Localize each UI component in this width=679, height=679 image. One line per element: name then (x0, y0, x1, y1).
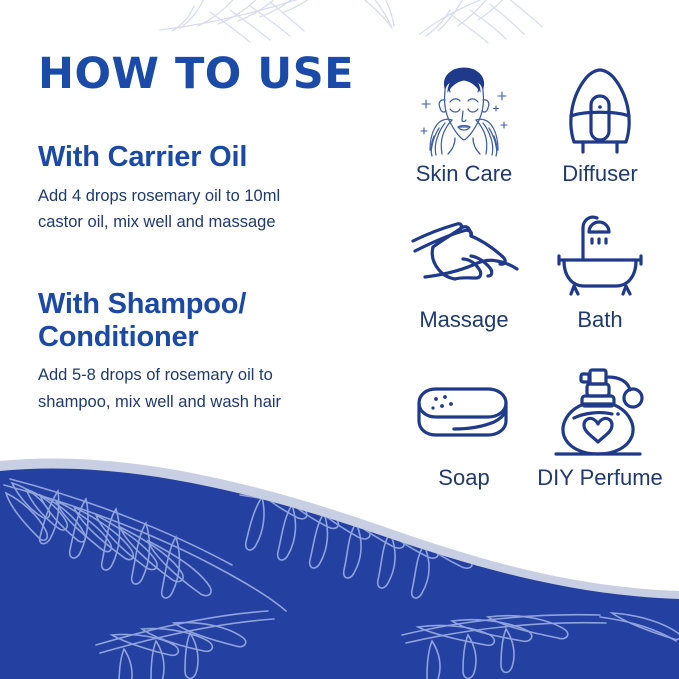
use-item-bath: Bath (532, 212, 668, 362)
instruction-heading-shampoo: With Shampoo/ Conditioner (38, 288, 378, 353)
page-title: HOW TO USE (38, 52, 378, 97)
bathtub-icon (550, 212, 650, 298)
uses-icon-grid: Skin Care (396, 52, 668, 517)
use-item-massage: Massage (396, 212, 532, 362)
use-label-bath: Bath (577, 308, 622, 332)
instruction-block-shampoo: With Shampoo/ Conditioner Add 5-8 drops … (38, 288, 378, 415)
use-item-skin-care: Skin Care (396, 52, 532, 212)
spacer (38, 262, 378, 288)
instruction-line: Add 4 drops rosemary oil to 10ml (38, 183, 378, 210)
diffuser-icon (552, 52, 648, 160)
soap-bar-icon (414, 362, 514, 462)
use-item-soap: Soap (396, 362, 532, 517)
instruction-body-shampoo: Add 5-8 drops of rosemary oil to shampoo… (38, 362, 378, 415)
use-item-diy-perfume: DIY Perfume (532, 362, 668, 517)
perfume-bottle-icon (548, 362, 652, 462)
instructions-column: HOW TO USE With Carrier Oil Add 4 drops … (38, 52, 378, 441)
use-label-soap: Soap (438, 466, 489, 490)
use-item-diffuser: Diffuser (532, 52, 668, 212)
instruction-body-carrier-oil: Add 4 drops rosemary oil to 10ml castor … (38, 183, 378, 236)
how-to-use-infographic: HOW TO USE With Carrier Oil Add 4 drops … (0, 0, 679, 679)
face-skincare-icon (412, 52, 516, 160)
instruction-heading-carrier-oil: With Carrier Oil (38, 141, 378, 173)
instruction-heading-line: With Shampoo/ (38, 288, 378, 320)
use-label-diffuser: Diffuser (562, 162, 637, 186)
instruction-line: shampoo, mix well and wash hair (38, 389, 378, 416)
use-label-diy-perfume: DIY Perfume (537, 466, 663, 490)
use-label-massage: Massage (419, 308, 508, 332)
instruction-block-carrier-oil: With Carrier Oil Add 4 drops rosemary oi… (38, 141, 378, 236)
instruction-heading-line: Conditioner (38, 321, 378, 353)
rosemary-sprig-outline-top-icon (120, 0, 560, 44)
instruction-line: Add 5-8 drops of rosemary oil to (38, 362, 378, 389)
instruction-line: castor oil, mix well and massage (38, 209, 378, 236)
use-label-skin-care: Skin Care (416, 162, 513, 186)
massage-hands-icon (405, 212, 523, 298)
